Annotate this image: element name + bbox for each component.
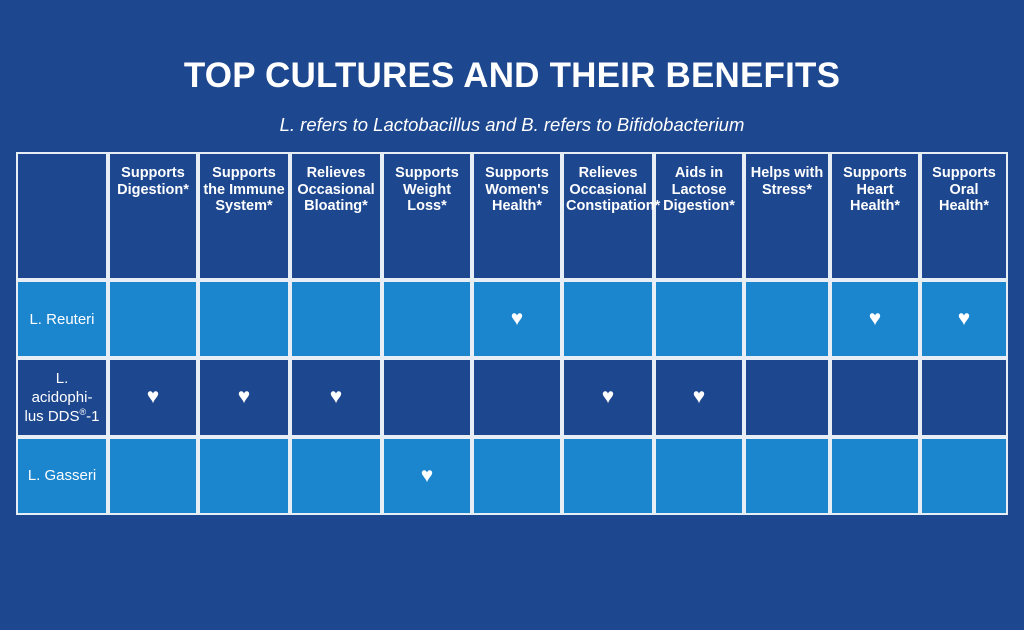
cell-r3-c3: ♥ <box>290 437 382 515</box>
heart-icon: ♥ <box>421 465 433 486</box>
cell-r2-c9: ♥ <box>830 358 920 436</box>
row-label-1: L. Reuteri <box>16 280 108 358</box>
cell-r3-c1: ♥ <box>108 437 198 515</box>
cell-r2-c7: ♥ <box>654 358 744 436</box>
cell-r2-c5: ♥ <box>472 358 562 436</box>
row-label-line-2: lus DDS®-1 <box>24 407 100 426</box>
cell-r1-c3: ♥ <box>290 280 382 358</box>
column-header-7: Aids in Lactose Digestion* <box>654 152 744 280</box>
cell-r3-c8: ♥ <box>744 437 830 515</box>
cell-r2-c2: ♥ <box>198 358 290 436</box>
table-corner-cell <box>16 152 108 280</box>
heart-icon: ♥ <box>693 386 705 407</box>
cell-r2-c1: ♥ <box>108 358 198 436</box>
cell-r3-c7: ♥ <box>654 437 744 515</box>
cell-r2-c8: ♥ <box>744 358 830 436</box>
heart-icon: ♥ <box>958 308 970 329</box>
row-label-line-1: L. acidophi- <box>24 369 100 407</box>
column-header-9: Supports Heart Health* <box>830 152 920 280</box>
cell-r2-c10: ♥ <box>920 358 1008 436</box>
heart-icon: ♥ <box>330 386 342 407</box>
table-row: L. Gasseri♥♥♥♥♥♥♥♥♥♥ <box>16 437 1008 515</box>
cell-r1-c5: ♥ <box>472 280 562 358</box>
row-label-3: L. Gasseri <box>16 437 108 515</box>
heart-icon: ♥ <box>511 308 523 329</box>
heart-icon: ♥ <box>602 386 614 407</box>
table-row: L. Reuteri♥♥♥♥♥♥♥♥♥♥ <box>16 280 1008 358</box>
cell-r3-c4: ♥ <box>382 437 472 515</box>
cell-r1-c4: ♥ <box>382 280 472 358</box>
heart-icon: ♥ <box>238 386 250 407</box>
cell-r3-c10: ♥ <box>920 437 1008 515</box>
cell-r1-c2: ♥ <box>198 280 290 358</box>
cell-r1-c6: ♥ <box>562 280 654 358</box>
table-header: Supports Digestion*Supports the Immune S… <box>16 152 1008 280</box>
column-header-5: Supports Women's Health* <box>472 152 562 280</box>
cell-r3-c9: ♥ <box>830 437 920 515</box>
header-row: Supports Digestion*Supports the Immune S… <box>16 152 1008 280</box>
heart-icon: ♥ <box>147 386 159 407</box>
cell-r1-c7: ♥ <box>654 280 744 358</box>
heart-icon: ♥ <box>869 308 881 329</box>
column-header-2: Supports the Immune System* <box>198 152 290 280</box>
cell-r3-c5: ♥ <box>472 437 562 515</box>
row-label-2: L. acidophi-lus DDS®-1 <box>16 358 108 436</box>
cell-r3-c6: ♥ <box>562 437 654 515</box>
cultures-benefits-table: Supports Digestion*Supports the Immune S… <box>16 152 1008 515</box>
page-subtitle: L. refers to Lactobacillus and B. refers… <box>0 113 1024 137</box>
cell-r2-c6: ♥ <box>562 358 654 436</box>
table-row: L. acidophi-lus DDS®-1♥♥♥♥♥♥♥♥♥♥ <box>16 358 1008 436</box>
table-body: L. Reuteri♥♥♥♥♥♥♥♥♥♥L. acidophi-lus DDS®… <box>16 280 1008 515</box>
column-header-6: Relieves Occasional Constipation* <box>562 152 654 280</box>
column-header-1: Supports Digestion* <box>108 152 198 280</box>
cell-r3-c2: ♥ <box>198 437 290 515</box>
cell-r1-c8: ♥ <box>744 280 830 358</box>
column-header-8: Helps with Stress* <box>744 152 830 280</box>
cell-r1-c1: ♥ <box>108 280 198 358</box>
cell-r1-c10: ♥ <box>920 280 1008 358</box>
cell-r1-c9: ♥ <box>830 280 920 358</box>
cell-r2-c3: ♥ <box>290 358 382 436</box>
column-header-4: Supports Weight Loss* <box>382 152 472 280</box>
column-header-10: Supports Oral Health* <box>920 152 1008 280</box>
page-title: TOP CULTURES AND THEIR BENEFITS <box>0 55 1024 97</box>
column-header-3: Relieves Occasional Bloating* <box>290 152 382 280</box>
cell-r2-c4: ♥ <box>382 358 472 436</box>
